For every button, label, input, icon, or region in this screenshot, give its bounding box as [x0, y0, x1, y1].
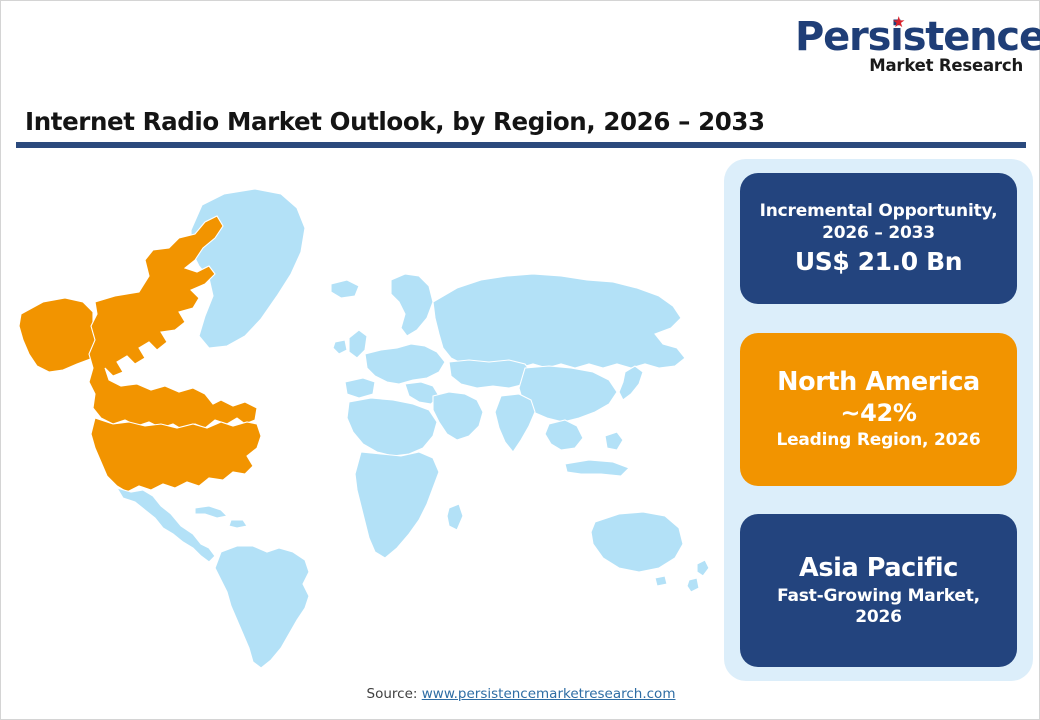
card-fastest-growing-region[interactable]: Asia Pacific Fast-Growing Market, 2026 — [740, 514, 1017, 667]
leading-region-note: Leading Region, 2026 — [776, 430, 980, 451]
map-region-united-states — [91, 418, 261, 492]
source-link[interactable]: www.persistencemarketresearch.com — [422, 686, 676, 702]
title-divider — [16, 142, 1026, 148]
map-region-iberia — [345, 378, 375, 398]
map-region-middle-east — [433, 392, 483, 440]
map-region-south-america — [215, 546, 309, 668]
stats-panel: Incremental Opportunity, 2026 – 2033 US$… — [724, 159, 1033, 681]
map-region-mexico — [117, 488, 215, 562]
map-region-hispaniola — [229, 520, 247, 528]
incremental-value: US$ 21.0 Bn — [795, 246, 962, 277]
map-region-madagascar — [447, 504, 463, 530]
logo-wordmark: Persistence ★ — [795, 17, 1040, 57]
map-region-new-zealand — [697, 560, 709, 576]
source-label: Source: — [367, 686, 418, 702]
incremental-label-line1: Incremental Opportunity, — [760, 200, 998, 222]
map-region-new-zealand-south — [687, 578, 699, 592]
map-region-iceland — [331, 280, 359, 298]
map-region-caribbean — [195, 506, 227, 518]
fastest-region-note: Fast-Growing Market, 2026 — [752, 586, 1005, 629]
map-region-japan — [619, 366, 643, 400]
leading-region-share: ~42% — [840, 398, 916, 428]
source-footer: Source: www.persistencemarketresearch.co… — [1, 686, 1040, 702]
world-map — [9, 156, 719, 676]
incremental-label-line2: 2026 – 2033 — [822, 222, 935, 244]
map-region-indonesia — [565, 460, 629, 476]
logo-subtitle: Market Research — [795, 58, 1023, 75]
map-region-ireland — [333, 340, 347, 354]
map-region-australia — [591, 512, 683, 572]
map-region-india — [495, 394, 535, 452]
map-region-philippines — [605, 432, 623, 450]
map-region-russia — [433, 274, 685, 368]
map-region-southeast-asia — [545, 420, 583, 450]
card-incremental-opportunity[interactable]: Incremental Opportunity, 2026 – 2033 US$… — [740, 173, 1017, 304]
leading-region-name: North America — [777, 367, 980, 398]
map-region-western-europe — [365, 344, 445, 384]
map-region-scandinavia — [391, 274, 433, 336]
map-region-tasmania — [655, 576, 667, 586]
persistence-market-research-logo: Persistence ★ Market Research — [795, 17, 1023, 77]
page-title: Internet Radio Market Outlook, by Region… — [25, 107, 1015, 136]
infographic-root: Persistence ★ Market Research Internet R… — [0, 0, 1040, 720]
logo-star-icon: ★ — [892, 17, 903, 28]
map-region-united-kingdom — [349, 330, 367, 358]
logo-word-text: Persistence — [795, 14, 1040, 60]
map-region-sub-saharan-africa — [355, 452, 439, 558]
card-leading-region[interactable]: North America ~42% Leading Region, 2026 — [740, 333, 1017, 486]
map-region-north-africa — [347, 398, 437, 456]
fastest-region-name: Asia Pacific — [799, 553, 958, 584]
